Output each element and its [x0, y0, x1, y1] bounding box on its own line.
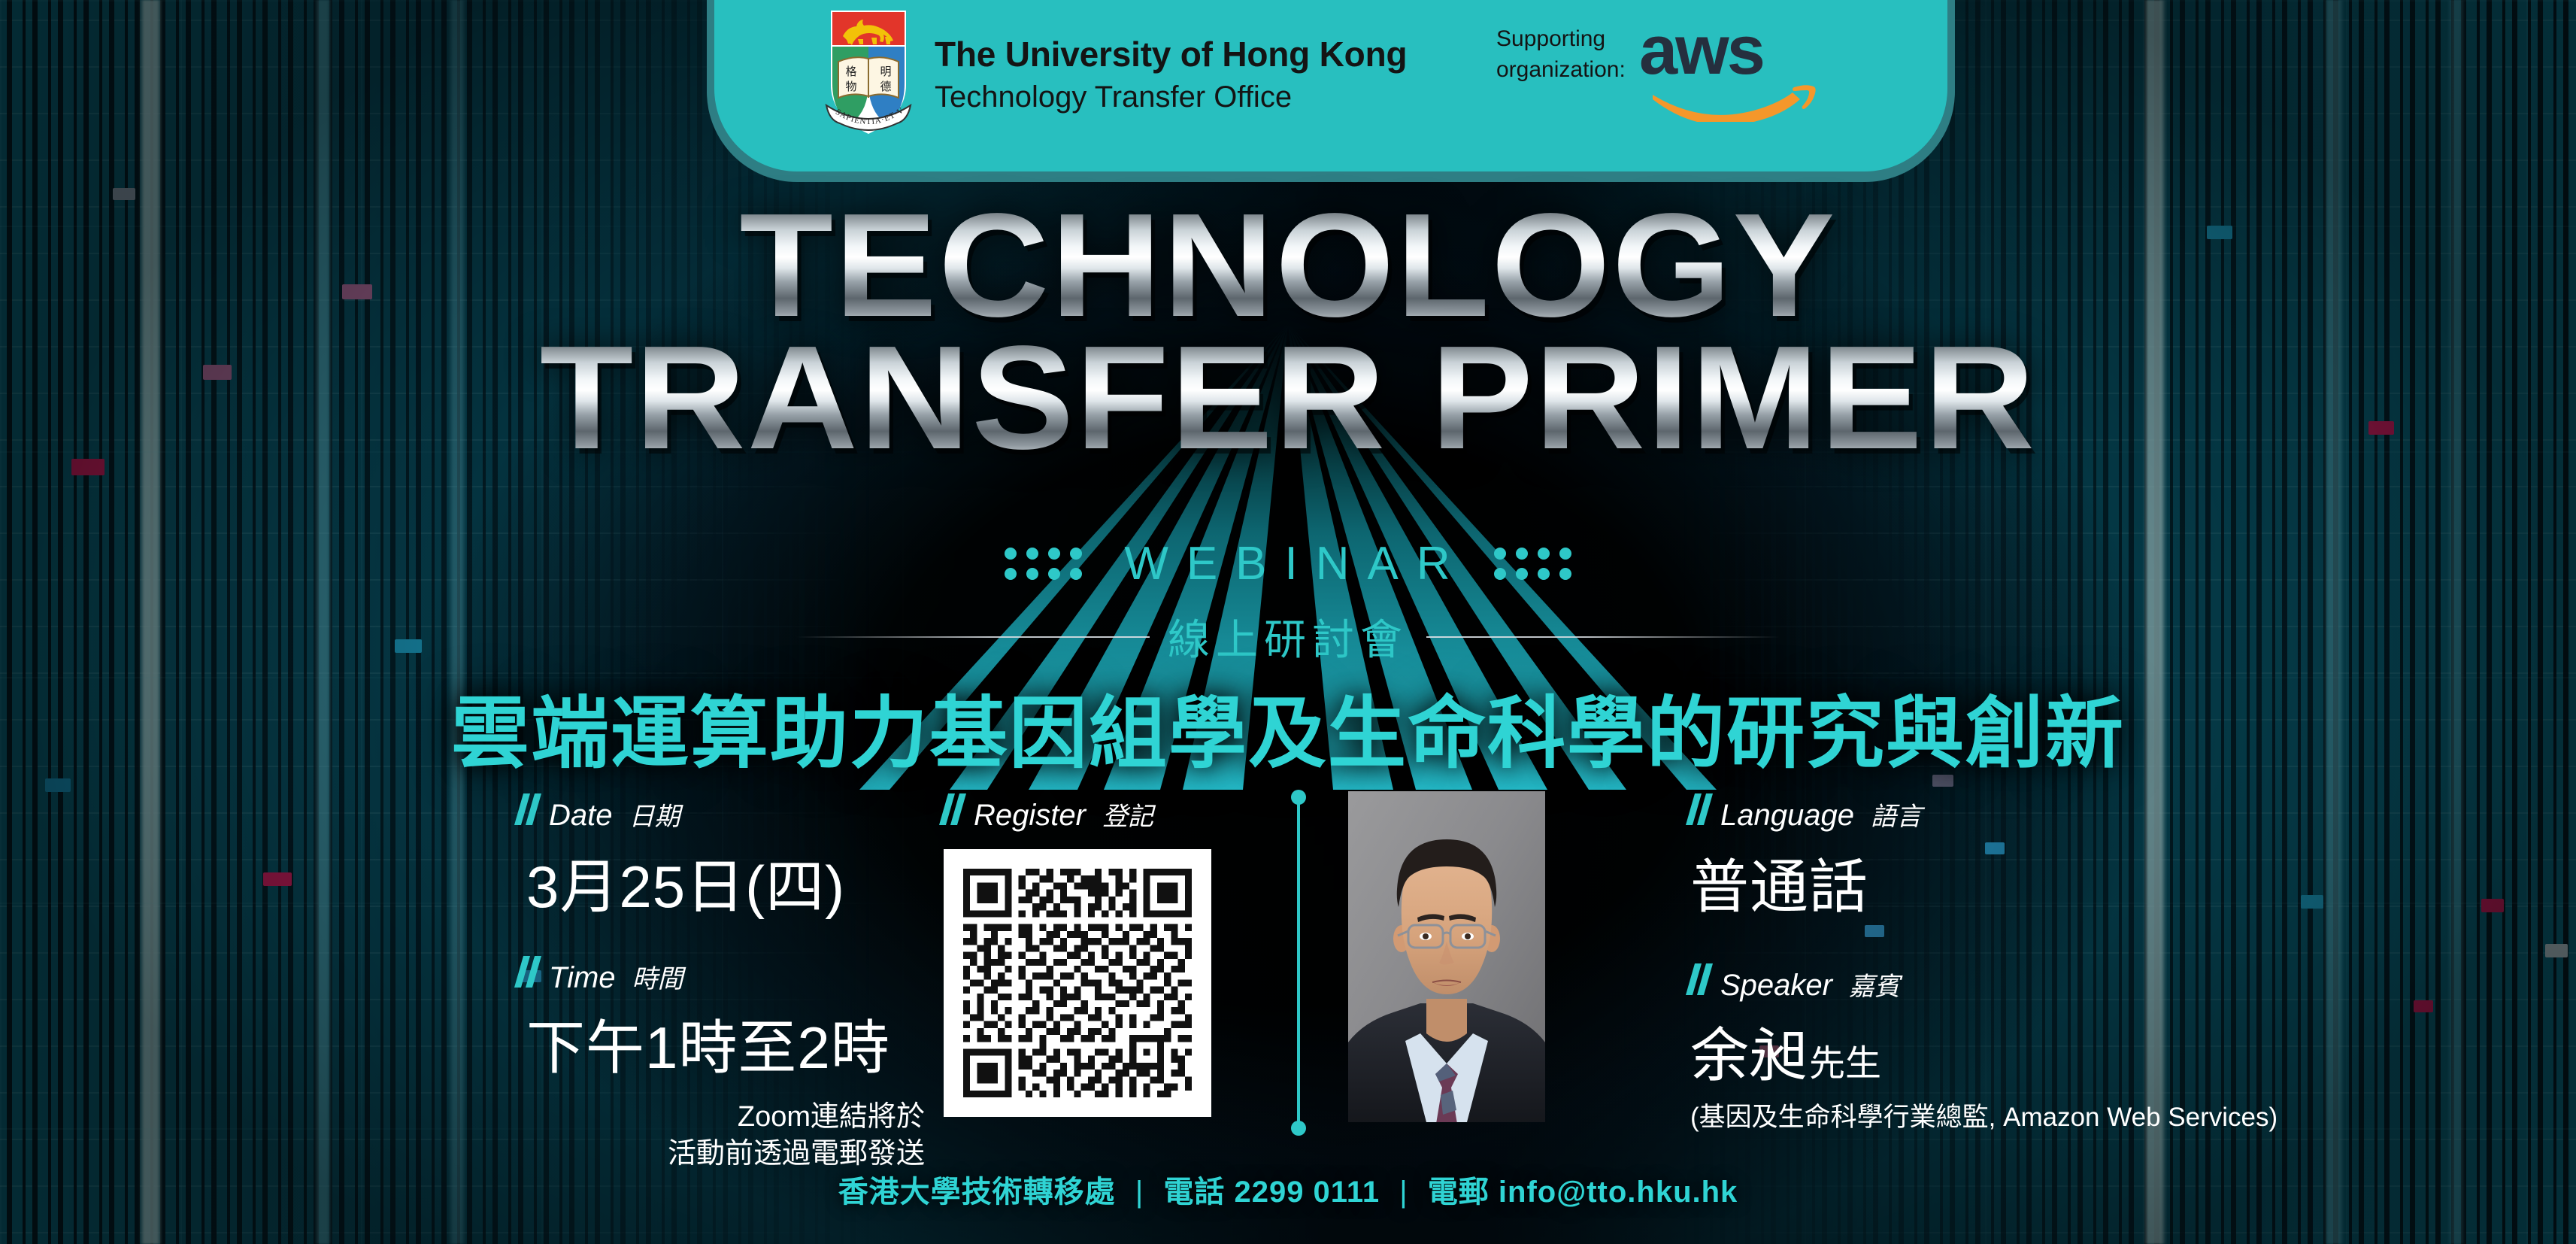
slash-marker-icon	[514, 793, 541, 825]
date-label-row: Date 日期	[519, 793, 925, 833]
footer-phone-label: 電話	[1163, 1176, 1225, 1209]
zoom-link-note: Zoom連結將於 活動前透過電郵發送	[519, 1099, 925, 1172]
speaker-portrait	[1348, 791, 1545, 1122]
hku-logo-lockup: 格 明 物 德 SAPIENTIA·ET·VIRTUS The Universi…	[823, 6, 1407, 141]
date-label-cn: 日期	[629, 796, 680, 833]
language-label-cn: 語言	[1871, 796, 1922, 833]
webinar-row: WEBINAR	[0, 537, 2576, 590]
time-value: 下午1時至2時	[526, 1001, 925, 1085]
headline-text: 雲端運算助力基因組學及生命科學的研究與創新	[0, 669, 2576, 783]
speaker-name: 余昶	[1690, 1009, 1808, 1093]
title-line-1: TECHNOLOGY	[0, 197, 2576, 334]
speaker-block: Speaker 嘉賓 余昶 先生 (基因及生命科學行業總監, Amazon We…	[1690, 963, 2277, 1134]
speaker-honorific: 先生	[1809, 1033, 1881, 1086]
title-block: TECHNOLOGY TRANSFER PRIMER	[0, 197, 2576, 467]
dot-grid-left-icon	[1005, 548, 1082, 580]
footer-separator-2: |	[1399, 1176, 1408, 1209]
aws-logo-icon: aws	[1639, 17, 1827, 122]
university-name: The University of Hong Kong	[935, 34, 1407, 74]
webinar-cn-row: 線上研討會	[0, 606, 2576, 667]
dot-grid-right-icon	[1494, 548, 1571, 580]
register-label-cn: 登記	[1102, 796, 1153, 833]
divider-line	[1297, 797, 1300, 1128]
webinar-poster: 格 明 物 德 SAPIENTIA·ET·VIRTUS The Universi…	[0, 0, 2576, 1244]
date-time-column: Date 日期 3月25日(四) Time 時間 下午1時至2時 Zoom連結將…	[519, 793, 925, 1172]
supporting-line-1: Supporting	[1496, 24, 1626, 55]
footer-contact-bar: 香港大學技術轉移處 | 電話 2299 0111 | 電郵 info@tto.h…	[0, 1167, 2576, 1211]
svg-text:明: 明	[880, 65, 891, 78]
register-label-row: Register 登記	[944, 793, 1211, 833]
zoom-note-line-1: Zoom連結將於	[519, 1099, 925, 1136]
office-name: Technology Transfer Office	[935, 80, 1407, 114]
speaker-column: Language 語言 普通話 Speaker 嘉賓 余昶 先生 (基因及生命科…	[1690, 793, 2277, 1134]
title-line-2: TRANSFER PRIMER	[0, 329, 2576, 466]
footer-email-label: 電郵	[1428, 1176, 1490, 1209]
time-block: Time 時間 下午1時至2時	[519, 956, 925, 1085]
zoom-note-line-2: 活動前透過電郵發送	[519, 1136, 925, 1173]
rule-right	[1426, 636, 1780, 638]
header-bar: 格 明 物 德 SAPIENTIA·ET·VIRTUS The Universi…	[714, 0, 1947, 171]
date-label-en: Date	[549, 799, 613, 833]
speaker-affiliation: (基因及生命科學行業總監, Amazon Web Services)	[1690, 1096, 2277, 1134]
slash-marker-icon	[939, 793, 966, 825]
footer-phone: 2299 0111	[1234, 1176, 1380, 1209]
svg-text:物: 物	[845, 80, 856, 93]
rule-left	[796, 636, 1150, 638]
time-label-row: Time 時間	[519, 956, 925, 995]
language-value: 普通話	[1690, 840, 2277, 924]
vertical-divider	[1291, 790, 1306, 1136]
speaker-name-row: 余昶 先生	[1690, 1009, 2277, 1093]
svg-text:aws: aws	[1639, 17, 1763, 89]
time-label-en: Time	[549, 961, 616, 995]
date-value: 3月25日(四)	[526, 840, 925, 924]
qr-code-icon[interactable]	[963, 869, 1192, 1097]
speaker-label-en: Speaker	[1720, 969, 1832, 1003]
hku-name-block: The University of Hong Kong Technology T…	[935, 34, 1407, 114]
divider-dot-bottom-icon	[1291, 1121, 1306, 1136]
footer-separator-1: |	[1135, 1176, 1144, 1209]
footer-email[interactable]: info@tto.hku.hk	[1499, 1176, 1738, 1209]
register-label-en: Register	[974, 799, 1086, 833]
time-label-cn: 時間	[632, 958, 683, 995]
language-label-en: Language	[1720, 799, 1854, 833]
webinar-label: WEBINAR	[1108, 537, 1468, 590]
register-column: Register 登記	[944, 793, 1211, 1117]
language-label-row: Language 語言	[1690, 793, 2277, 833]
slash-marker-icon	[1686, 793, 1713, 825]
webinar-cn-label: 線上研討會	[1168, 606, 1408, 667]
supporting-line-2: organization:	[1496, 55, 1626, 86]
slash-marker-icon	[514, 956, 541, 988]
speaker-label-cn: 嘉賓	[1849, 966, 1900, 1003]
supporting-organization-label: Supporting organization:	[1496, 24, 1626, 85]
qr-code-card[interactable]	[944, 849, 1211, 1117]
svg-text:德: 德	[880, 80, 891, 93]
svg-text:格: 格	[845, 65, 856, 78]
slash-marker-icon	[1686, 963, 1713, 995]
hku-crest-icon: 格 明 物 德 SAPIENTIA·ET·VIRTUS	[823, 6, 914, 141]
speaker-label-row: Speaker 嘉賓	[1690, 963, 2277, 1003]
footer-office: 香港大學技術轉移處	[838, 1176, 1116, 1209]
